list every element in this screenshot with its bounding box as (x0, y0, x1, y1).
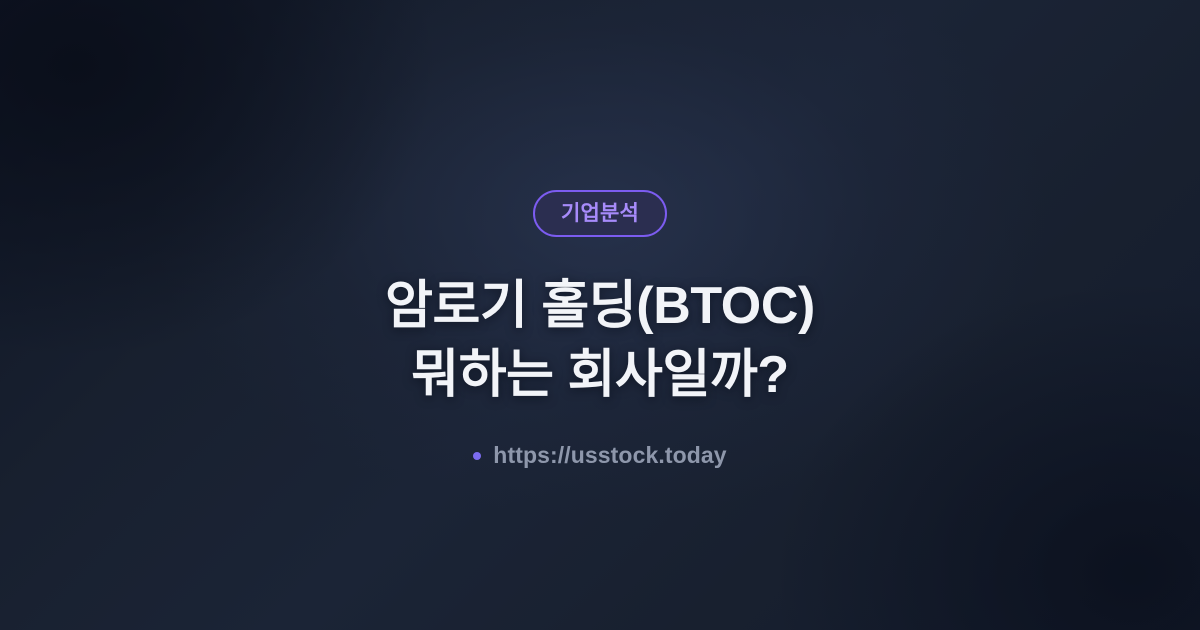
card-content: 기업분석 암로기 홀딩(BTOC) 뭐하는 회사일까? https://usst… (0, 0, 1200, 630)
page-title-line-1: 암로기 홀딩(BTOC) (385, 273, 815, 340)
site-url-text: https://usstock.today (493, 444, 726, 467)
site-url-footer: https://usstock.today (473, 444, 726, 467)
og-share-card: 기업분석 암로기 홀딩(BTOC) 뭐하는 회사일까? https://usst… (0, 0, 1200, 630)
category-badge: 기업분석 (533, 190, 667, 237)
page-title-line-2: 뭐하는 회사일까? (411, 342, 789, 409)
bullet-dot-icon (473, 452, 481, 460)
